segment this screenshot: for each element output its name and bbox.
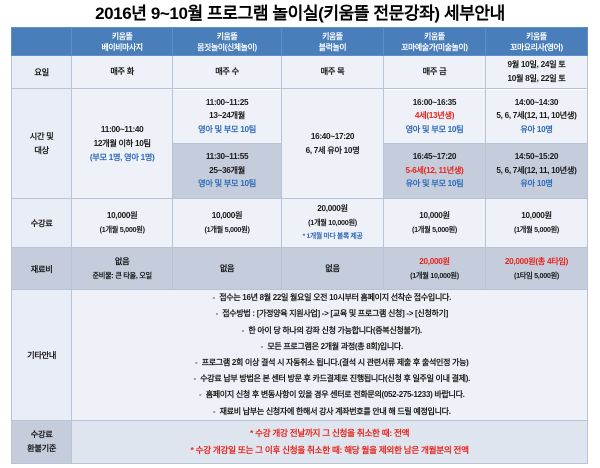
tuition-amount: 10,000원 <box>107 209 137 223</box>
schedule-time: 16:00~16:35 <box>413 96 456 110</box>
schedule-age: 5, 6, 7세(12, 11, 10년생) <box>496 109 576 123</box>
material-sub: (1개월 10,000원) <box>410 269 459 283</box>
schedule-age: 5, 6, 7세(12, 11, 10년생) <box>496 164 576 178</box>
schedule-target: 영아 및 부모 10팀 <box>406 123 464 137</box>
bullet-dash: - <box>208 290 219 306</box>
schedule-cell-little-artist: 16:00~16:35 4세(13년생) 영아 및 부모 10팀 16:45~1… <box>384 89 486 199</box>
row-label-line1: 수강료 <box>31 428 53 442</box>
bullet-dash: - <box>211 306 222 322</box>
list-item: -수강료 납부 방법은 본 센터 방문 후 카드결제로 진행됩니다(신청 후 일… <box>72 371 587 387</box>
schedule-time: 11:00~11:40 <box>101 123 143 137</box>
weekday-text: 매주 금 <box>423 65 447 79</box>
row-label-other-info: 기타안내 <box>12 290 72 421</box>
schedule-target: 유아 및 부모 10팀 <box>406 177 464 191</box>
schedule-cell-body-play: 11:00~11:25 13~24개월 영아 및 부모 10팀 11:30~11… <box>173 89 282 199</box>
schedule-time: 11:00~11:25 <box>206 96 248 110</box>
header-corner-cell <box>12 28 72 56</box>
tuition-monthly: (1개월 5,000원) <box>100 223 145 237</box>
bullet-dash: - <box>237 323 248 339</box>
weekday-text: 매주 목 <box>321 65 345 79</box>
schedule-time: 14:50~15:20 <box>515 150 558 164</box>
material-cell-little-chef: 20,000원(총 4타임) (1타임 5,000원) <box>485 248 587 290</box>
tuition-cell-block-play: 20,000원 (1개월 10,000원) * 1개월 마다 블록 제공 <box>282 199 384 248</box>
material-cell-baby-massage: 없음 준비물: 큰 타올, 오일 <box>72 248 173 290</box>
material-sub: (1타임 5,000원) <box>514 269 559 283</box>
schedule-subcell-second: 16:45~17:20 5-6세(12, 11년생) 유아 및 부모 10팀 <box>384 144 485 198</box>
schedule-subcell-first: 16:00~16:35 4세(13년생) 영아 및 부모 10팀 <box>384 90 485 144</box>
schedule-target: (부모 1명, 영아 1명) <box>90 151 155 165</box>
row-tuition: 수강료 10,000원 (1개월 5,000원) 10,000원 (1개월 5,… <box>12 199 588 248</box>
list-item: -접수는 16년 8월 22일 월요일 오전 10시부터 홈페이지 선착순 접수… <box>72 290 587 306</box>
row-weekday: 요일 매주 화 매주 수 매주 목 매주 금 9월 10일, 24일 토 10월… <box>12 56 588 89</box>
tuition-amount: 10,000원 <box>419 209 449 223</box>
other-info-list: -접수는 16년 8월 22일 월요일 오전 10시부터 홈페이지 선착순 접수… <box>72 290 587 420</box>
page-title: 2016년 9~10월 프로그램 놀이실(키움뜰 전문강좌) 세부안내 <box>0 0 600 27</box>
other-info-content: -접수는 16년 8월 22일 월요일 오전 10시부터 홈페이지 선착순 접수… <box>72 290 588 421</box>
schedule-time: 16:45~17:20 <box>413 150 456 164</box>
bullet-dash: - <box>195 387 206 403</box>
schedule-cell-little-chef: 14:00~14:30 5, 6, 7세(12, 11, 10년생) 유아 10… <box>485 89 587 199</box>
schedule-target: 영아 및 부모 10팀 <box>198 177 256 191</box>
note-text: 홈페이지 신청 후 변동사항이 있을 경우 센터로 전화문의(052-275-1… <box>206 390 465 399</box>
row-label-line1: 시간 및 <box>30 130 54 144</box>
material-amount: 20,000원(총 4타임) <box>505 255 568 269</box>
schedule-subcell-second: 11:30~11:55 25~36개월 영아 및 부모 10팀 <box>173 144 281 198</box>
refund-line: * 수강 개강일 또는 그 이후 신청을 취소한 때: 해당 월을 제외한 남은… <box>72 442 587 459</box>
tuition-cell-baby-massage: 10,000원 (1개월 5,000원) <box>72 199 173 248</box>
column-header-line2: 몸짓놀이(신체놀이) <box>173 42 281 53</box>
schedule-target: 유아 10명 <box>520 123 552 137</box>
column-header-line1: 키움뜰 <box>282 31 383 42</box>
note-text: 접수는 16년 8월 22일 월요일 오전 10시부터 홈페이지 선착순 접수입… <box>219 293 451 302</box>
column-header-line2: 블럭놀이 <box>282 42 383 53</box>
row-label-material-fee: 재료비 <box>12 248 72 290</box>
tuition-note: * 1개월 마다 블록 제공 <box>303 230 363 244</box>
weekday-text-line1: 9월 10일, 24일 토 <box>507 58 565 72</box>
schedule-target: 유아 10명 <box>520 177 552 191</box>
schedule-time: 14:00~14:30 <box>515 96 558 110</box>
schedule-target: 영아 및 부모 10팀 <box>198 123 256 137</box>
weekday-cell-baby-massage: 매주 화 <box>72 56 173 89</box>
row-label-line2: 환불기준 <box>27 442 56 456</box>
tuition-monthly: (1개월 5,000원) <box>205 223 250 237</box>
column-header-line1: 키움뜰 <box>173 31 281 42</box>
table-header-row: 키움뜰 베이비마사지 키움뜰 몸짓놀이(신체놀이) 키움뜰 블럭놀이 키움뜰 꼬… <box>12 28 588 56</box>
material-cell-block-play: 없음 <box>282 248 384 290</box>
list-item: -접수방법 : [가정양육 지원사업] -> [교육 및 프로그램 신청] ->… <box>72 306 587 322</box>
bullet-dash: - <box>209 404 220 420</box>
tuition-monthly: (1개월 5,000원) <box>412 223 457 237</box>
row-schedule: 시간 및 대상 11:00~11:40 12개월 이하 10팀 (부모 1명, … <box>12 89 588 199</box>
weekday-text-line2: 10월 8일, 22일 토 <box>507 72 565 86</box>
refund-policy-content: * 수강 개강 전날까지 그 신청을 취소한 때: 전액 * 수강 개강일 또는… <box>72 421 588 464</box>
tuition-amount: 10,000원 <box>212 209 242 223</box>
row-label-weekday: 요일 <box>12 56 72 89</box>
column-header-baby-massage: 키움뜰 베이비마사지 <box>72 28 173 56</box>
material-cell-body-play: 없음 <box>173 248 282 290</box>
program-schedule-table: 키움뜰 베이비마사지 키움뜰 몸짓놀이(신체놀이) 키움뜰 블럭놀이 키움뜰 꼬… <box>11 27 588 464</box>
weekday-cell-little-artist: 매주 금 <box>384 56 486 89</box>
list-item: -홈페이지 신청 후 변동사항이 있을 경우 센터로 전화문의(052-275-… <box>72 387 587 403</box>
column-header-line2: 베이비마사지 <box>72 42 172 53</box>
weekday-cell-block-play: 매주 목 <box>282 56 384 89</box>
column-header-line1: 키움뜰 <box>72 31 172 42</box>
schedule-age: 5-6세(12, 11년생) <box>405 164 463 178</box>
column-header-line1: 키움뜰 <box>384 31 485 42</box>
weekday-text: 매주 화 <box>110 65 134 79</box>
column-header-body-play: 키움뜰 몸짓놀이(신체놀이) <box>173 28 282 56</box>
tuition-cell-little-artist: 10,000원 (1개월 5,000원) <box>384 199 486 248</box>
tuition-cell-body-play: 10,000원 (1개월 5,000원) <box>173 199 282 248</box>
note-text: 한 아이 당 하나의 강좌 신청 가능합니다(중복신청불가). <box>248 326 422 335</box>
row-material-fee: 재료비 없음 준비물: 큰 타올, 오일 없음 없음 20,000원 (1개월 … <box>12 248 588 290</box>
row-label-line2: 대상 <box>34 144 48 158</box>
material-cell-little-artist: 20,000원 (1개월 10,000원) <box>384 248 486 290</box>
note-text: 접수방법 : [가정양육 지원사업] -> [교육 및 프로그램 신청] -> … <box>222 309 448 318</box>
list-item: -프로그램 2회 이상 결석 시 자동취소 됩니다.(결석 시 관련서류 제출 … <box>72 355 587 371</box>
schedule-cell-baby-massage: 11:00~11:40 12개월 이하 10팀 (부모 1명, 영아 1명) <box>72 89 173 199</box>
schedule-age: 4세(13년생) <box>415 109 454 123</box>
column-header-little-chef: 키움뜰 꼬마요리사(영어) <box>485 28 587 56</box>
bullet-dash: - <box>189 371 200 387</box>
row-label-schedule: 시간 및 대상 <box>12 89 72 199</box>
program-schedule-page: 2016년 9~10월 프로그램 놀이실(키움뜰 전문강좌) 세부안내 키움뜰 … <box>0 0 600 468</box>
schedule-age: 25~36개월 <box>209 164 245 178</box>
column-header-little-artist: 키움뜰 꼬마예술가(미술놀이) <box>384 28 486 56</box>
material-sub: 준비물: 큰 타올, 오일 <box>92 269 151 283</box>
bullet-dash: - <box>256 339 267 355</box>
refund-line: * 수강 개강 전날까지 그 신청을 취소한 때: 전액 <box>72 425 587 442</box>
column-header-line1: 키움뜰 <box>486 31 587 42</box>
tuition-monthly: (1개월 10,000원) <box>308 216 357 230</box>
schedule-cell-block-play: 16:40~17:20 6, 7세 유아 10명 <box>282 89 384 199</box>
weekday-cell-body-play: 매주 수 <box>173 56 282 89</box>
schedule-age: 6, 7세 유아 10명 <box>306 144 360 158</box>
material-amount: 없음 <box>220 262 234 276</box>
column-header-line2: 꼬마예술가(미술놀이) <box>384 42 485 53</box>
tuition-amount: 20,000원 <box>317 202 347 216</box>
schedule-subcell-first: 11:00~11:25 13~24개월 영아 및 부모 10팀 <box>173 90 281 144</box>
bullet-dash: - <box>191 355 202 371</box>
row-refund-policy: 수강료 환불기준 * 수강 개강 전날까지 그 신청을 취소한 때: 전액 * … <box>12 421 588 464</box>
material-amount: 없음 <box>325 262 339 276</box>
schedule-age: 12개월 이하 10팀 <box>94 137 151 151</box>
schedule-subcell-first: 14:00~14:30 5, 6, 7세(12, 11, 10년생) 유아 10… <box>486 90 587 144</box>
weekday-cell-little-chef: 9월 10일, 24일 토 10월 8일, 22일 토 <box>485 56 587 89</box>
row-label-tuition: 수강료 <box>12 199 72 248</box>
note-text: 재료비 납부는 신청자에 한해서 강사 계좌번호를 안내 해 드릴 예정입니다. <box>220 407 451 416</box>
schedule-age: 13~24개월 <box>209 109 245 123</box>
row-other-info: 기타안내 -접수는 16년 8월 22일 월요일 오전 10시부터 홈페이지 선… <box>12 290 588 421</box>
row-label-refund-policy: 수강료 환불기준 <box>12 421 72 464</box>
tuition-cell-little-chef: 10,000원 (1개월 5,000원) <box>485 199 587 248</box>
list-item: -재료비 납부는 신청자에 한해서 강사 계좌번호를 안내 해 드릴 예정입니다… <box>72 404 587 420</box>
tuition-monthly: (1개월 5,000원) <box>514 223 559 237</box>
note-text: 수강료 납부 방법은 본 센터 방문 후 카드결제로 진행됩니다(신청 후 일주… <box>200 374 470 383</box>
schedule-subcell-second: 14:50~15:20 5, 6, 7세(12, 11, 10년생) 유아 10… <box>486 144 587 198</box>
column-header-block-play: 키움뜰 블럭놀이 <box>282 28 384 56</box>
material-amount: 20,000원 <box>419 255 449 269</box>
schedule-time: 11:30~11:55 <box>206 150 248 164</box>
schedule-time: 16:40~17:20 <box>311 130 354 144</box>
column-header-line2: 꼬마요리사(영어) <box>486 42 587 53</box>
weekday-text: 매주 수 <box>215 65 239 79</box>
list-item: -한 아이 당 하나의 강좌 신청 가능합니다(중복신청불가). <box>72 323 587 339</box>
note-text: 모든 프로그램은 2개월 과정(총 8회)입니다. <box>267 342 403 351</box>
list-item: -모든 프로그램은 2개월 과정(총 8회)입니다. <box>72 339 587 355</box>
note-text: 프로그램 2회 이상 결석 시 자동취소 됩니다.(결석 시 관련서류 제출 후… <box>202 358 469 367</box>
tuition-amount: 10,000원 <box>521 209 551 223</box>
material-amount: 없음 <box>115 255 129 269</box>
